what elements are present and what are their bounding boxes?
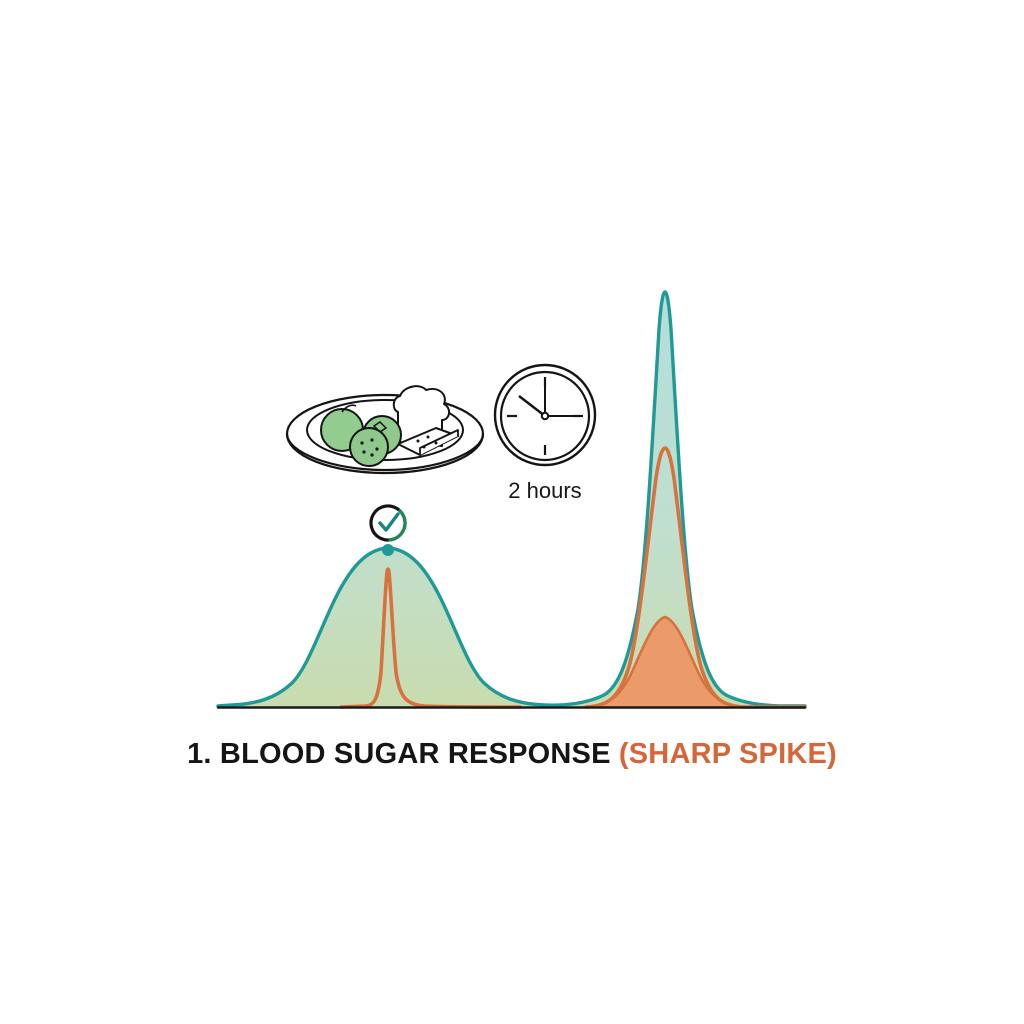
clock-center-dot [542,413,548,419]
blood-sugar-response-chart [0,0,1024,1024]
food-item-green-3 [350,428,388,466]
figure-canvas: 2 hours 1. BLOOD SUGAR RESPONSE (SHARP S… [0,0,1024,1024]
figure-caption: 1. BLOOD SUGAR RESPONSE (SHARP SPIKE) [0,738,1024,771]
clock-icon [495,365,595,465]
caption-main-text: 1. BLOOD SUGAR RESPONSE [187,738,611,770]
meal-plate-icon [287,386,483,473]
caption-accent-text: (SHARP SPIKE) [619,738,837,770]
check-circle-icon [365,500,411,546]
clock-duration-text: 2 hours [508,478,581,503]
peak-marker-dot [382,544,394,556]
clock-duration-label: 2 hours [475,478,615,504]
